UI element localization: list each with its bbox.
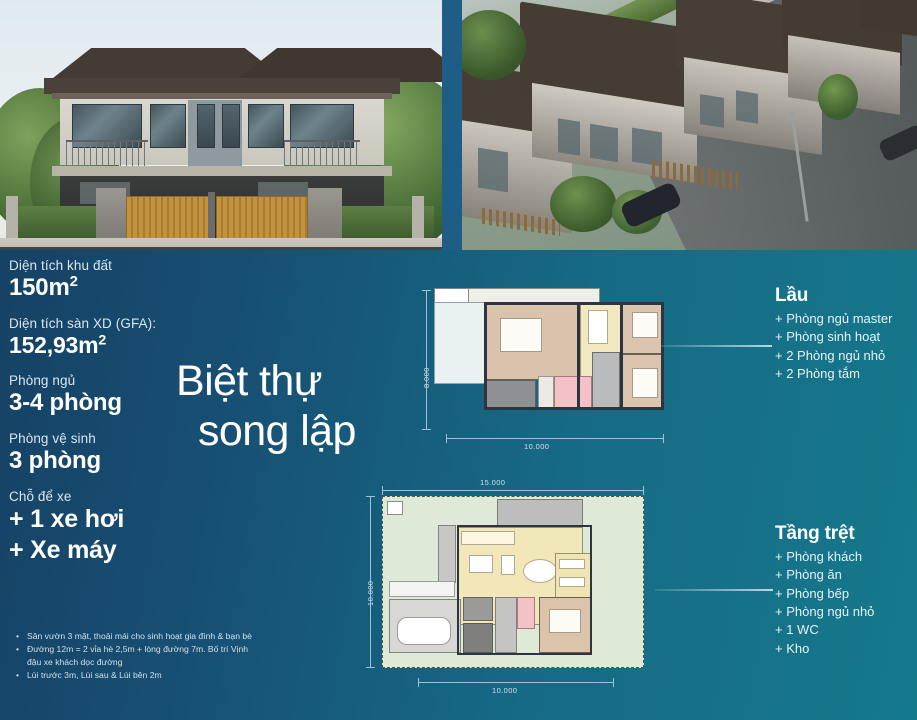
note-item: • Đường 12m = 2 vỉa hè 2,5m + lòng đường… [14, 643, 264, 669]
callout-item: + Phòng sinh hoạt [775, 328, 892, 346]
bed-furniture [632, 312, 658, 338]
callout-title: Lầu [775, 285, 892, 307]
corridor [495, 597, 517, 653]
callout-upper-floor: Lầu + Phòng ngủ master + Phòng sinh hoạt… [775, 285, 892, 383]
bullet-icon: • [14, 643, 27, 656]
spec-item-gfa: Diện tích sàn XD (GFA): 152,93m2 [9, 316, 209, 359]
gate-pillar [308, 188, 342, 242]
spec-item-land-area: Diện tích khu đất 150m2 [9, 258, 209, 302]
dim-height-label: 8.000 [422, 367, 431, 388]
room-void [434, 302, 488, 384]
room-wc [463, 597, 493, 621]
spec-label: Diện tích sàn XD (GFA): [9, 316, 209, 331]
ground-floor-plan: 15.000 10.000 [340, 476, 670, 716]
callout-item: + Phòng ngủ nhỏ [775, 603, 874, 621]
furniture-counter [461, 531, 515, 545]
callout-item: + 2 Phòng ngủ nhỏ [775, 347, 892, 365]
room-bathroom-master [484, 380, 536, 408]
road [0, 247, 442, 250]
window [700, 94, 724, 128]
spec-label: Chỗ để xe [9, 489, 209, 504]
site-marker [387, 501, 403, 515]
armchair [501, 555, 515, 575]
brochure-page: Diện tích khu đất 150m2 Diện tích sàn XD… [0, 0, 917, 720]
parking-item-car: + 1 xe hơi [9, 505, 209, 534]
photo-strip [0, 0, 917, 250]
dining-table [523, 559, 557, 583]
notes-list: • Sân vườn 3 mặt, thoải mái cho sinh hoạ… [14, 630, 264, 682]
note-item: • Sân vườn 3 mặt, thoải mái cho sinh hoạ… [14, 630, 264, 643]
window [248, 104, 284, 148]
kitchen-counter [559, 559, 585, 569]
callout-item: + Phòng bếp [775, 585, 874, 603]
window [222, 104, 240, 148]
kitchen-counter [559, 577, 585, 587]
plan-lower-body [382, 496, 644, 668]
callout-item: + Phòng khách [775, 548, 874, 566]
dim-width-label: 10.000 [524, 442, 549, 451]
bullet-icon: • [14, 630, 27, 643]
callout-item: + Phòng ngủ master [775, 310, 892, 328]
spec-value: 152,93m2 [9, 332, 209, 359]
sofa [469, 555, 493, 573]
room-bathroom [592, 352, 620, 408]
side-path [438, 525, 456, 583]
photo-divider [442, 0, 462, 250]
parking-item-motorbike: + Xe máy [9, 536, 209, 565]
callout-item: + Phòng ăn [775, 566, 874, 584]
spec-item-parking: Chỗ để xe + 1 xe hơi + Xe máy [9, 489, 209, 565]
furniture [588, 310, 608, 344]
dim-bottom-label: 10.000 [492, 686, 517, 695]
callout-item: + 2 Phòng tắm [775, 365, 892, 383]
callout-item: + Kho [775, 640, 874, 658]
fence-post [6, 196, 18, 240]
note-item: • Lùi trước 3m, Lùi sau & Lùi bên 2m [14, 669, 264, 682]
spec-value: 150m2 [9, 274, 209, 302]
gate-post [208, 192, 215, 242]
window [478, 148, 508, 193]
upper-floor-plan: 8.000 10.000 [412, 284, 674, 456]
spec-label: Diện tích khu đất [9, 258, 209, 273]
gate-pillar [96, 188, 126, 242]
window [150, 104, 186, 148]
tree-icon [818, 74, 858, 120]
page-title: Biệt thự song lập [176, 356, 406, 457]
car-footprint [397, 617, 451, 645]
aerial-street-render [462, 0, 917, 250]
wooden-gate [216, 196, 308, 242]
connector-line-upper [660, 345, 772, 347]
note-text: Đường 12m = 2 vỉa hè 2,5m + lòng đường 7… [27, 643, 264, 669]
title-line-1: Biệt thự [176, 357, 322, 405]
room-store [463, 623, 493, 653]
connector-line-lower [655, 589, 773, 591]
tree-icon [550, 176, 616, 232]
wooden-gate [126, 196, 212, 242]
callout-ground-floor: Tầng trệt + Phòng khách + Phòng ăn + Phò… [775, 523, 874, 658]
paving-strip [389, 581, 455, 597]
bed-furniture [632, 368, 658, 398]
bed-furniture [549, 609, 581, 633]
balcony-railing [284, 140, 360, 168]
bed-furniture [500, 318, 542, 352]
bullet-icon: • [14, 669, 27, 682]
dim-top-label: 15.000 [480, 478, 505, 487]
roof-eave [44, 78, 400, 94]
window [590, 124, 618, 162]
staircase [554, 376, 592, 408]
window [197, 104, 215, 148]
corridor [538, 376, 554, 408]
floor-slab [52, 166, 392, 176]
staircase [517, 597, 535, 629]
balcony-railing [66, 140, 148, 168]
note-text: Lùi trước 3m, Lùi sau & Lùi bên 2m [27, 669, 264, 682]
window [736, 90, 758, 123]
note-text: Sân vườn 3 mặt, thoải mái cho sinh hoạt … [27, 630, 264, 643]
callout-item: + 1 WC [775, 621, 874, 639]
dim-left-label: 10.000 [366, 581, 375, 606]
hedge [18, 206, 98, 240]
window [558, 118, 580, 155]
callout-title: Tầng trệt [775, 523, 874, 545]
title-line-2: song lập [176, 406, 406, 456]
fence-post [412, 196, 424, 240]
front-elevation-render [0, 0, 442, 250]
plan-upper-body [442, 290, 664, 430]
